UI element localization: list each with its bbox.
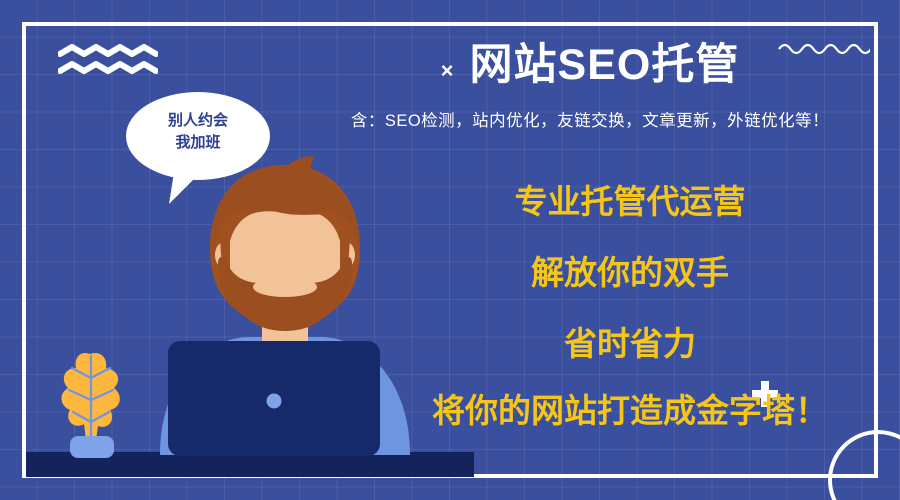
speech-bubble: 别人约会 我加班 [123,88,273,206]
close-x-icon: × [441,60,454,82]
headline-block: × 网站SEO托管 含：SEO检测，站内优化，友链交换，文章更新，外链优化等！ [300,42,880,131]
slogan-line-1: 专业托管代运营 [380,185,880,218]
zigzag-wave-icon [58,44,158,78]
subtitle-text: 含：SEO检测，站内优化，友链交换，文章更新，外链优化等！ [300,107,880,131]
laptop-logo-icon [267,393,282,408]
slogan-line-4: 将你的网站打造成金字塔！ [380,394,880,427]
laptop-illustration [168,341,380,456]
title-row: × 网站SEO托管 [300,42,880,89]
page-title: 网站SEO托管 [470,42,740,89]
slogan-list: 专业托管代运营 解放你的双手 省时省力 将你的网站打造成金字塔！ [380,185,880,427]
speech-bubble-text: 别人约会 我加班 [123,110,273,154]
slogan-line-3: 省时省力 [380,327,880,360]
slogan-line-2: 解放你的双手 [380,256,880,289]
seo-promo-poster: × 网站SEO托管 含：SEO检测，站内优化，友链交换，文章更新，外链优化等！ … [0,0,900,500]
potted-leaf-plant-illustration [52,348,130,458]
